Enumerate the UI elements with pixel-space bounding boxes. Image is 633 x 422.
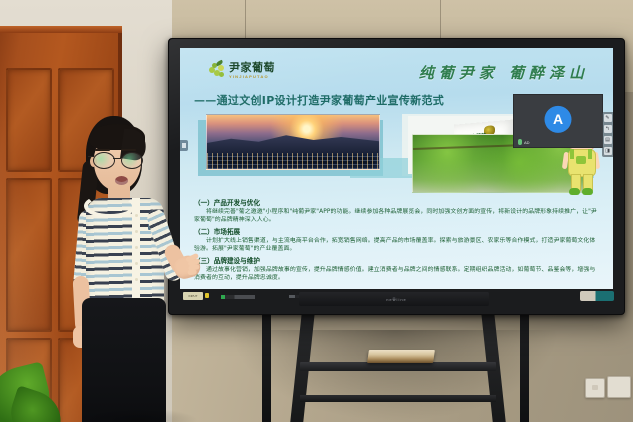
section-body: 计划扩大线上销售渠道，与主流电商平台合作，拓宽销售网络。提高产品的市场覆盖率。探… bbox=[194, 237, 600, 254]
section-body: 通过故事化营销，加强品牌故事的宣传，提升品牌情感价值。建立消费者与品牌之间的情感… bbox=[194, 266, 600, 283]
floor-shadow bbox=[230, 330, 560, 422]
section-body: 将继续完善"葡之邀邀"小程序和"纯葡尹家"APP的功能。继续参加各种品牌展览会，… bbox=[194, 208, 600, 225]
status-badge: INPUT bbox=[183, 292, 203, 300]
photo-scene: 尹家葡萄 YINJIAPUTAO 纯葡尹家 葡醉泽山 ——通过文创IP设计打造尹… bbox=[0, 0, 633, 422]
video-call-overlay[interactable]: A AD bbox=[513, 94, 603, 148]
stand-shelf bbox=[300, 362, 496, 371]
eyebrow bbox=[121, 149, 136, 151]
slide-slogan: 纯葡尹家 葡醉泽山 bbox=[419, 62, 589, 83]
section-heading: （三）品牌建设与维护 bbox=[194, 257, 600, 266]
device-brand-label: newline bbox=[386, 297, 407, 302]
glasses-icon bbox=[93, 152, 143, 167]
participant-label-wrap: AD bbox=[518, 139, 530, 145]
presentation-slide[interactable]: 尹家葡萄 YINJIAPUTAO 纯葡尹家 葡醉泽山 ——通过文创IP设计打造尹… bbox=[180, 48, 613, 289]
mouth bbox=[115, 176, 128, 185]
brand-name-en: YINJIAPUTAO bbox=[229, 74, 275, 79]
presenter bbox=[62, 116, 182, 422]
collar bbox=[84, 194, 136, 218]
eraser-tool-icon[interactable]: ◨ bbox=[604, 147, 612, 155]
side-control-button[interactable] bbox=[580, 291, 614, 301]
interactive-flat-panel[interactable]: 尹家葡萄 YINJIAPUTAO 纯葡尹家 葡醉泽山 ——通过文创IP设计打造尹… bbox=[168, 38, 625, 315]
stand-lower-shelf bbox=[300, 395, 496, 402]
light-switch[interactable] bbox=[585, 378, 605, 398]
presenter-shadow bbox=[78, 408, 198, 422]
avatar: A bbox=[545, 106, 572, 133]
brand-logo: 尹家葡萄 YINJIAPUTAO bbox=[208, 62, 275, 79]
grape-cluster-icon bbox=[208, 62, 226, 79]
trousers bbox=[82, 298, 166, 422]
section-heading: （二）市场拓展 bbox=[194, 228, 600, 237]
pen-tool-icon[interactable]: ✎ bbox=[604, 114, 612, 122]
power-led bbox=[221, 295, 255, 299]
indicator-led bbox=[205, 293, 209, 298]
sunset-mountain-village-photo bbox=[206, 114, 380, 170]
microphone-icon bbox=[518, 139, 522, 145]
power-outlet[interactable] bbox=[607, 376, 631, 398]
slide-side-toolbar[interactable]: ✎ ↰ ▤ ◨ bbox=[602, 112, 613, 157]
slide-body: （一）产品开发与优化 将继续完善"葡之邀邀"小程序和"纯葡尹家"APP的功能。继… bbox=[194, 196, 600, 283]
stand-leg bbox=[520, 313, 529, 422]
tv-screen[interactable]: 尹家葡萄 YINJIAPUTAO 纯葡尹家 葡醉泽山 ——通过文创IP设计打造尹… bbox=[180, 48, 613, 289]
notebook-on-shelf[interactable] bbox=[367, 350, 435, 363]
undo-tool-icon[interactable]: ↰ bbox=[604, 125, 612, 133]
eyebrow bbox=[95, 149, 110, 151]
section-heading: （一）产品开发与优化 bbox=[194, 199, 600, 208]
stand-leg bbox=[262, 313, 271, 422]
page-tool-icon[interactable]: ▤ bbox=[604, 136, 612, 144]
participant-label: AD bbox=[524, 140, 530, 145]
brand-name-cn: 尹家葡萄 bbox=[229, 62, 275, 73]
